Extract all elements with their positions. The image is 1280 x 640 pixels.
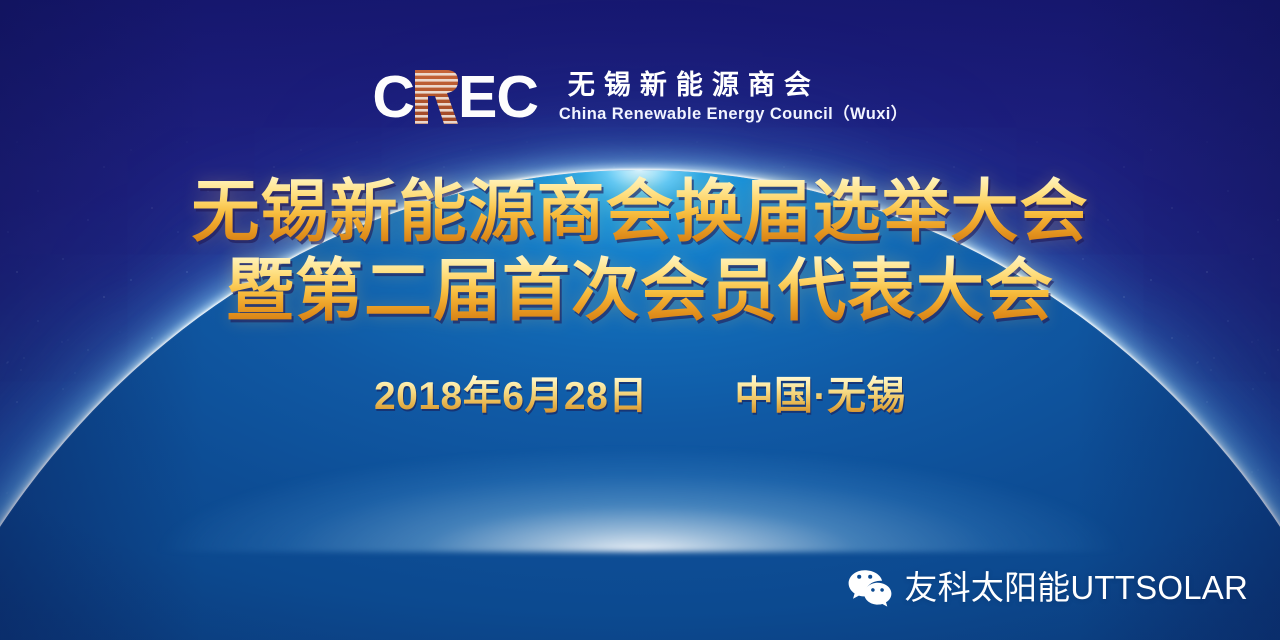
- wechat-watermark[interactable]: 友科太阳能UTTSOLAR: [847, 568, 1248, 608]
- headline-line-2: 暨第二届首次会员代表大会: [0, 251, 1280, 331]
- crec-letter-r-striped-icon: [413, 68, 459, 126]
- headline-block: 无锡新能源商会换届选举大会 暨第二届首次会员代表大会: [0, 172, 1280, 331]
- wechat-icon: [847, 568, 893, 608]
- headline-line-1: 无锡新能源商会换届选举大会: [0, 172, 1280, 252]
- crec-letter-c-second: C: [496, 69, 538, 125]
- crec-letter-e: E: [458, 69, 496, 125]
- crec-letter-c-first: C: [372, 69, 414, 125]
- event-date: 2018年6月28日: [374, 375, 648, 418]
- association-name-cn: 无锡新能源商会: [559, 69, 908, 101]
- association-name-block: 无锡新能源商会 China Renewable Energy Council（W…: [559, 66, 908, 124]
- association-name-en: China Renewable Energy Council（Wuxi）: [559, 104, 908, 124]
- crec-wordmark: C: [372, 66, 538, 128]
- logo-lockup: C: [0, 66, 1280, 128]
- conference-banner: C: [0, 0, 1280, 640]
- event-meta-line: 2018年6月28日 中国·无锡: [0, 372, 1280, 422]
- event-location: 中国·无锡: [735, 375, 907, 418]
- wechat-account-name: 友科太阳能UTTSOLAR: [904, 568, 1248, 608]
